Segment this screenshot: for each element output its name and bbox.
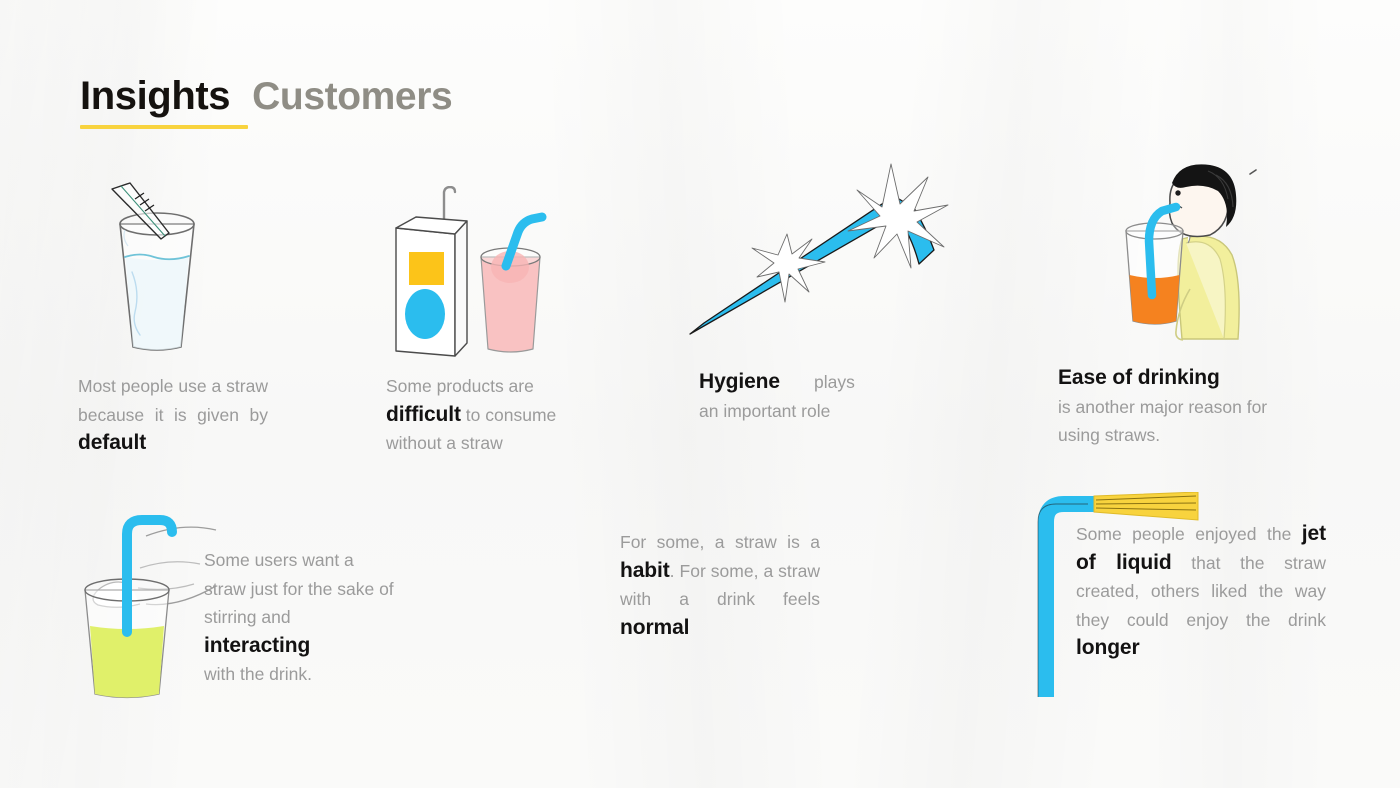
insight-text-difficult-lead: Some products are	[386, 376, 534, 396]
page-subtitle: Customers	[252, 75, 452, 119]
juice-box-and-pink-smoothie-icon	[392, 186, 552, 363]
insight-text-interacting-lead: Some users want a straw just for the sak…	[204, 550, 394, 627]
insight-emphasis-longer: longer	[1076, 636, 1140, 659]
glass-of-water-with-straw-icon	[92, 172, 222, 362]
insight-text-default: Most people use a straw because it is gi…	[78, 372, 268, 458]
insight-emphasis-interacting: interacting	[204, 634, 310, 657]
insight-text-habit-lead: For some, a straw is a	[620, 532, 820, 552]
slide-canvas: Insights Customers Most people use	[0, 0, 1400, 788]
insight-text-habit-normal: For some, a straw is a habit. For some, …	[620, 528, 820, 642]
title-underline-accent	[80, 125, 248, 129]
insight-text-jet-lead: Some people enjoyed the	[1076, 524, 1302, 544]
hand-stirring-drink-with-straw-icon	[78, 508, 218, 708]
page-title: Insights	[80, 74, 230, 119]
insight-text-hygiene-tail: an important role	[699, 401, 830, 421]
insight-emphasis-difficult: difficult	[386, 403, 461, 426]
insight-emphasis-hygiene: Hygiene	[699, 370, 780, 393]
insight-emphasis-normal: normal	[620, 616, 689, 639]
person-drinking-orange-juice-icon	[1120, 163, 1260, 348]
insight-emphasis-ease: Ease of drinking	[1058, 366, 1220, 389]
sparkling-clean-straw-icon	[686, 158, 951, 353]
insight-text-interacting-tail: with the drink.	[204, 664, 312, 684]
insight-emphasis-default: default	[78, 431, 146, 454]
insight-text-hygiene-mid: plays	[814, 372, 855, 392]
insight-text-jet-of-liquid: Some people enjoyed the jet of liquid th…	[1076, 520, 1326, 663]
insight-text-interacting: Some users want a straw just for the sak…	[204, 546, 400, 689]
insight-text-hygiene: Hygieneplays an important role	[699, 368, 931, 425]
slide-header: Insights Customers	[80, 74, 452, 129]
insight-text-difficult: Some products are difficult to consume w…	[386, 372, 574, 458]
insight-text-ease-tail: is another major reason for using straws…	[1058, 397, 1267, 446]
title-row: Insights Customers	[80, 74, 452, 119]
insight-emphasis-habit: habit	[620, 559, 670, 582]
insight-text-ease-of-drinking: Ease of drinking is another major reason…	[1058, 364, 1303, 450]
insight-text-default-lead: Most people use a straw because it is gi…	[78, 376, 268, 425]
